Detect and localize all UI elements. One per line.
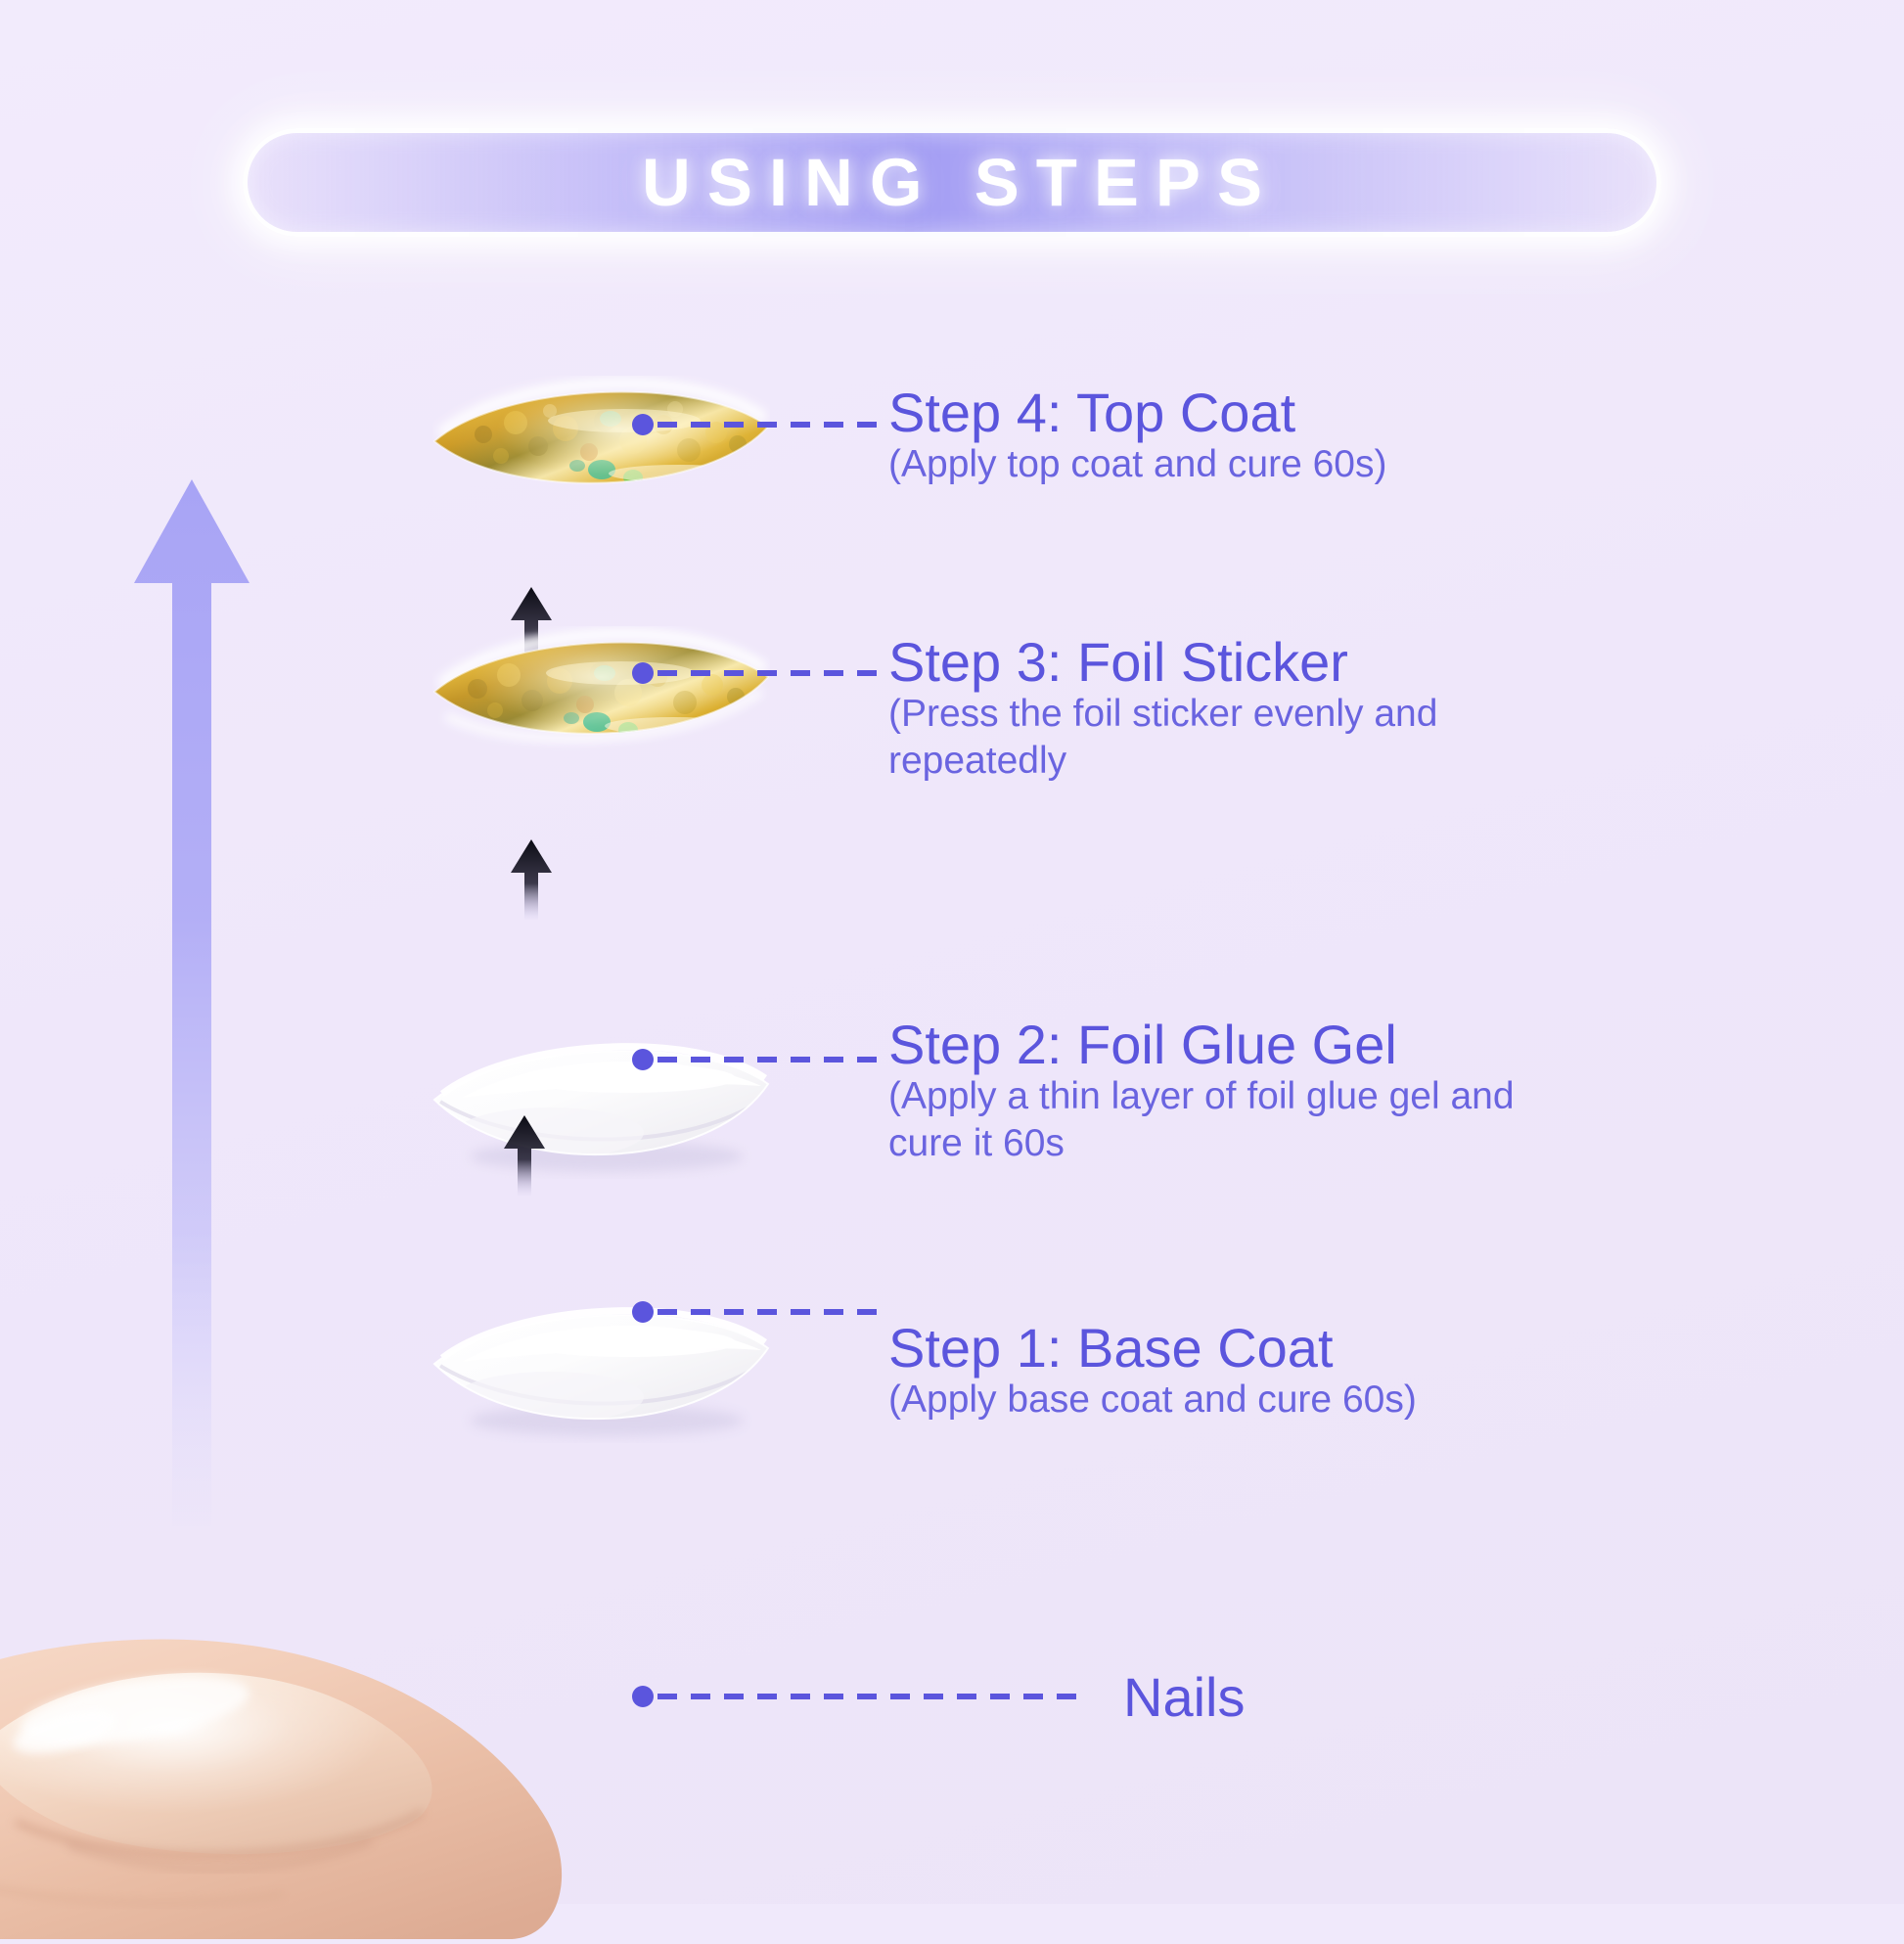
callout-dash — [657, 422, 890, 428]
callout-dash — [657, 1694, 1082, 1699]
page-title: USING STEPS — [625, 149, 1279, 216]
layer-gold-foil-sticker — [432, 626, 770, 753]
step-block-3: Step 3: Foil Sticker (Press the foil sti… — [888, 633, 1564, 785]
step-block-4: Step 4: Top Coat (Apply top coat and cur… — [888, 384, 1386, 488]
step-2-subtitle: (Apply a thin layer of foil glue gel and… — [888, 1073, 1573, 1166]
callout-dash — [657, 1309, 890, 1315]
layer-base-coat — [432, 1301, 770, 1443]
callout-line-nails — [634, 1693, 1082, 1699]
callout-line-step-2 — [634, 1056, 890, 1062]
callout-dot-icon — [632, 662, 654, 684]
step-1-subtitle: (Apply base coat and cure 60s) — [888, 1377, 1417, 1424]
callout-line-step-3 — [634, 669, 890, 676]
step-block-2: Step 2: Foil Glue Gel (Apply a thin laye… — [888, 1016, 1573, 1167]
callout-dot-icon — [632, 1686, 654, 1707]
step-4-title: Step 4: Top Coat — [888, 384, 1386, 441]
callout-dash — [657, 670, 890, 676]
callout-line-step-1 — [634, 1308, 890, 1315]
transition-arrow-2-to-3-icon — [511, 839, 552, 920]
step-3-subtitle: (Press the foil sticker evenly and repea… — [888, 691, 1564, 784]
callout-dot-icon — [632, 1049, 654, 1070]
callout-dash — [657, 1057, 890, 1062]
transition-arrow-1-to-2-icon — [504, 1115, 545, 1196]
nails-label: Nails — [1123, 1670, 1245, 1725]
infographic-canvas: USING STEPS — [0, 0, 1904, 1904]
step-block-1: Step 1: Base Coat (Apply base coat and c… — [888, 1319, 1417, 1424]
progress-direction-arrow-icon — [134, 479, 249, 1526]
layer-gold-foil-top-coat — [432, 376, 770, 503]
step-1-title: Step 1: Base Coat — [888, 1319, 1417, 1377]
step-3-title: Step 3: Foil Sticker — [888, 633, 1564, 691]
header-banner: USING STEPS — [243, 128, 1661, 237]
fingertip-photo — [0, 1528, 704, 1939]
callout-dot-icon — [632, 414, 654, 435]
step-4-subtitle: (Apply top coat and cure 60s) — [888, 441, 1386, 488]
callout-dot-icon — [632, 1301, 654, 1323]
step-2-title: Step 2: Foil Glue Gel — [888, 1016, 1573, 1073]
callout-line-step-4 — [634, 421, 890, 428]
